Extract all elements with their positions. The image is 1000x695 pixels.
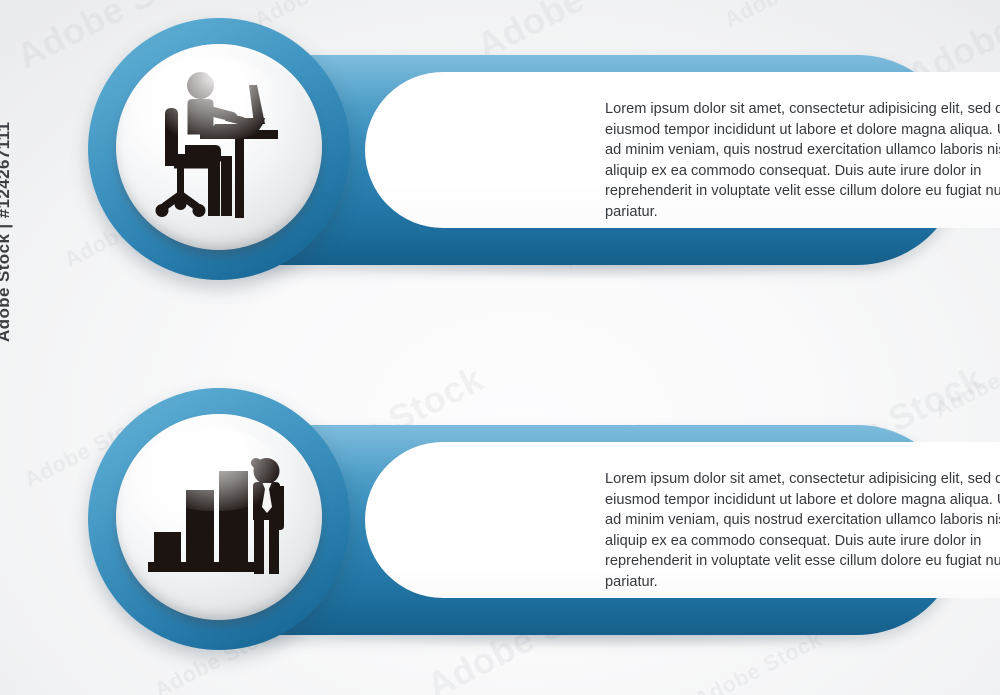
white-text-capsule-2: Lorem ipsum dolor sit amet, consectetur … (365, 442, 1000, 598)
icon-badge-sphere-1 (116, 44, 322, 250)
body-text-1: Lorem ipsum dolor sit amet, consectetur … (605, 99, 1000, 223)
icon-badge-sphere-2 (116, 414, 322, 620)
businessman-presenting-bar-chart-icon (116, 414, 322, 620)
icon-badge-1[interactable] (88, 18, 350, 280)
poster-canvas: Adobe StockAdobe StockAdobe StockAdobe S… (0, 0, 1000, 695)
person-at-desk-with-laptop-icon (116, 44, 322, 250)
banner-row-1: Lorem ipsum dolor sit amet, consectetur … (0, 0, 1000, 300)
banner-row-2: Lorem ipsum dolor sit amet, consectetur … (0, 370, 1000, 670)
icon-badge-2[interactable] (88, 388, 350, 650)
body-text-2: Lorem ipsum dolor sit amet, consectetur … (605, 469, 1000, 593)
white-text-capsule-1: Lorem ipsum dolor sit amet, consectetur … (365, 72, 1000, 228)
